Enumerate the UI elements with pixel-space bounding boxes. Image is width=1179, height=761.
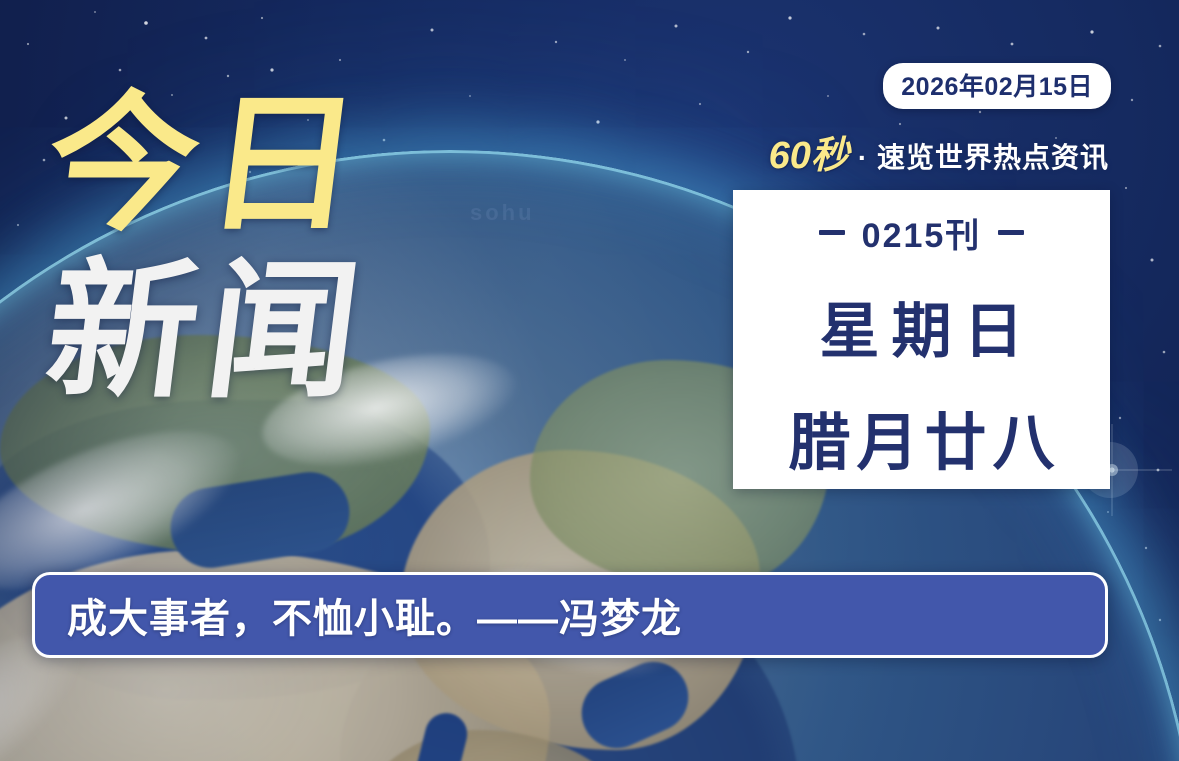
- page-title-line-2: 新闻: [39, 259, 477, 406]
- date-badge: 2026年02月15日: [883, 63, 1111, 109]
- issue-number: 0215刊: [862, 208, 982, 257]
- tagline-duration: 60秒: [769, 137, 849, 176]
- quote-text: 成大事者，不恤小耻。——冯梦龙: [67, 586, 682, 644]
- issue-row: 0215刊: [819, 208, 1025, 257]
- quote-bar: 成大事者，不恤小耻。——冯梦龙: [32, 572, 1108, 658]
- news-poster: sohu 今日 新闻 2026年02月15日 60秒 · 速览世界热点资讯 02…: [0, 0, 1179, 761]
- dash-left-icon: [819, 230, 845, 235]
- tagline: 60秒 · 速览世界热点资讯: [769, 137, 1109, 176]
- lunar-date-label: 腊月廿八: [782, 392, 1060, 482]
- tagline-description: · 速览世界热点资讯: [858, 144, 1109, 176]
- page-title-line-1: 今日: [39, 92, 477, 239]
- dash-right-icon: [998, 230, 1024, 235]
- weekday-label: 星期日: [808, 283, 1036, 370]
- info-card: 0215刊 星期日 腊月廿八: [733, 190, 1110, 489]
- poster-title: 今日 新闻: [48, 92, 468, 406]
